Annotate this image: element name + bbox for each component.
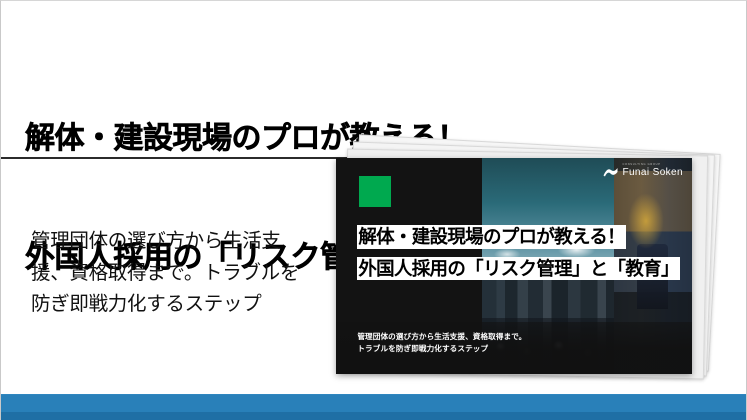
logo-name: Funai Soken: [622, 168, 683, 178]
bottom-accent-bar: [1, 394, 746, 420]
green-accent-square: [359, 176, 391, 207]
card-title-line-1: 解体・建設現場のプロが教える！: [357, 225, 625, 249]
funai-soken-logo: CONSULTING GROUP Funai Soken: [603, 164, 683, 178]
logo-text-group: CONSULTING GROUP Funai Soken: [622, 164, 683, 178]
slide-thumbnail-card[interactable]: CONSULTING GROUP Funai Soken 解体・建設現場のプロが…: [336, 158, 692, 374]
body-copy: 管理団体の選び方から生活支 援、資格取得まで。トラブルを 防ぎ即戦力化するステッ…: [31, 226, 331, 321]
wave-mark-icon: [603, 165, 618, 178]
card-title-line-2: 外国人採用の「リスク管理」と「教育」: [357, 257, 679, 281]
horizontal-divider: [1, 157, 353, 159]
card-caption: 管理団体の選び方から生活支援、資格取得まで。 トラブルを防ぎ即戦力化するステップ: [357, 331, 663, 356]
card-title: 解体・建設現場のプロが教える！ 外国人採用の「リスク管理」と「教育」: [357, 225, 685, 280]
slide-canvas: 解体・建設現場のプロが教える！ 外国人採用の「リスク管理」と「教育」 管理団体の…: [0, 0, 747, 420]
bottom-accent-bar-lower: [1, 412, 746, 420]
